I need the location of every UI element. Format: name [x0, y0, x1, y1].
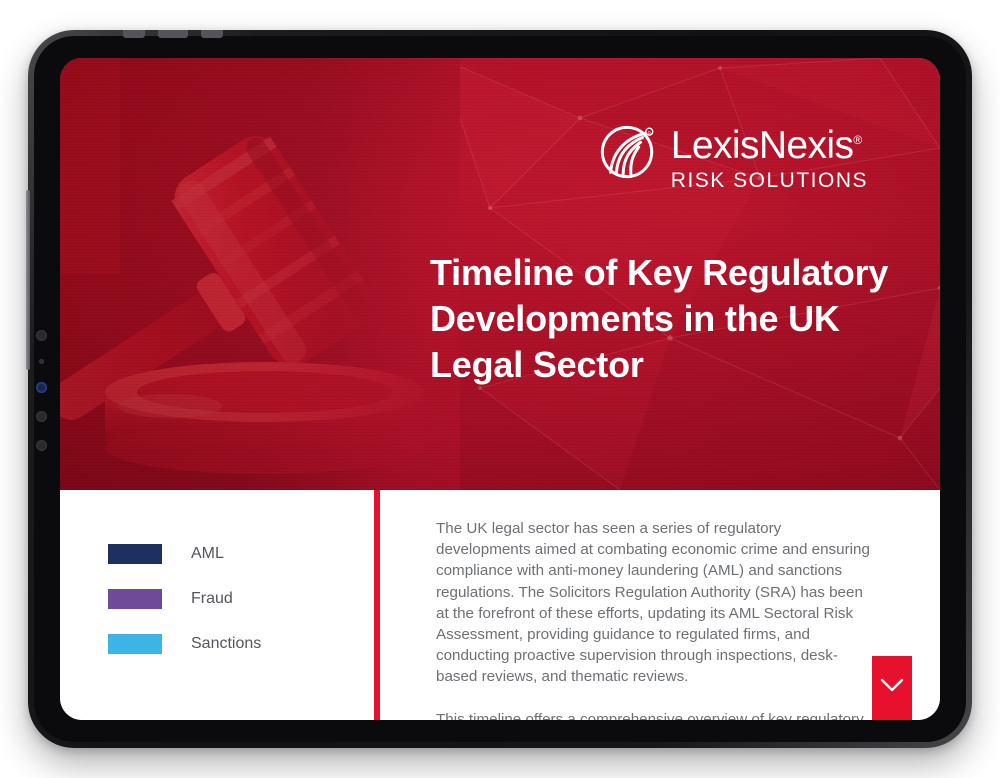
- screenshot-stage: R LexisNexis® RISK SOLUTIONS Timeline of…: [0, 0, 1000, 778]
- logo-subtitle: RISK SOLUTIONS: [671, 169, 868, 193]
- page-title: Timeline of Key Regulatory Developments …: [430, 250, 930, 388]
- legend-label-sanctions: Sanctions: [191, 635, 261, 653]
- connector-pin: [123, 30, 145, 38]
- scroll-down-button[interactable]: [872, 656, 912, 720]
- chevron-down-icon: [880, 678, 904, 693]
- sensor-icon: [36, 411, 47, 422]
- tablet-screen: R LexisNexis® RISK SOLUTIONS Timeline of…: [60, 58, 940, 720]
- photo-red-tint-overlay: [60, 58, 460, 490]
- legend: AML Fraud Sanctions: [60, 490, 372, 720]
- legend-label-fraud: Fraud: [191, 590, 233, 608]
- logo-wordmark-text: LexisNexis: [671, 124, 854, 167]
- sensor-icon: [39, 359, 44, 364]
- legend-swatch-aml: [108, 544, 162, 564]
- device-top-connector-pins: [123, 30, 269, 39]
- connector-pin: [158, 30, 188, 38]
- intro-text-column: The UK legal sector has seen a series of…: [380, 490, 940, 720]
- tablet-device: R LexisNexis® RISK SOLUTIONS Timeline of…: [28, 30, 972, 748]
- legend-swatch-fraud: [108, 589, 162, 609]
- intro-paragraph-1: The UK legal sector has seen a series of…: [436, 518, 873, 688]
- lexisnexis-logo: R LexisNexis® RISK SOLUTIONS: [599, 120, 868, 193]
- logo-wordmark-group: LexisNexis® RISK SOLUTIONS: [671, 120, 868, 193]
- connector-pin: [201, 30, 223, 38]
- logo-wordmark: LexisNexis®: [671, 120, 868, 166]
- legend-swatch-sanctions: [108, 634, 162, 654]
- hero-banner: R LexisNexis® RISK SOLUTIONS Timeline of…: [60, 58, 940, 490]
- device-left-sensors: [33, 330, 49, 451]
- registered-trademark-icon: ®: [853, 133, 862, 147]
- camera-icon: [36, 330, 47, 341]
- device-side-rail: [26, 190, 30, 370]
- legend-item-aml[interactable]: AML: [108, 532, 372, 576]
- speaker-icon: [36, 440, 47, 451]
- legend-item-sanctions[interactable]: Sanctions: [108, 622, 372, 666]
- svg-text:R: R: [647, 131, 651, 137]
- legend-label-aml: AML: [191, 545, 224, 563]
- lexisnexis-swoosh-icon: R: [599, 122, 657, 180]
- indicator-light-icon: [36, 382, 47, 393]
- intro-section: AML Fraud Sanctions The UK legal sector …: [60, 490, 940, 720]
- intro-paragraph-2: This timeline offers a comprehensive ove…: [436, 709, 873, 720]
- legend-item-fraud[interactable]: Fraud: [108, 577, 372, 621]
- gavel-photo: [60, 58, 460, 490]
